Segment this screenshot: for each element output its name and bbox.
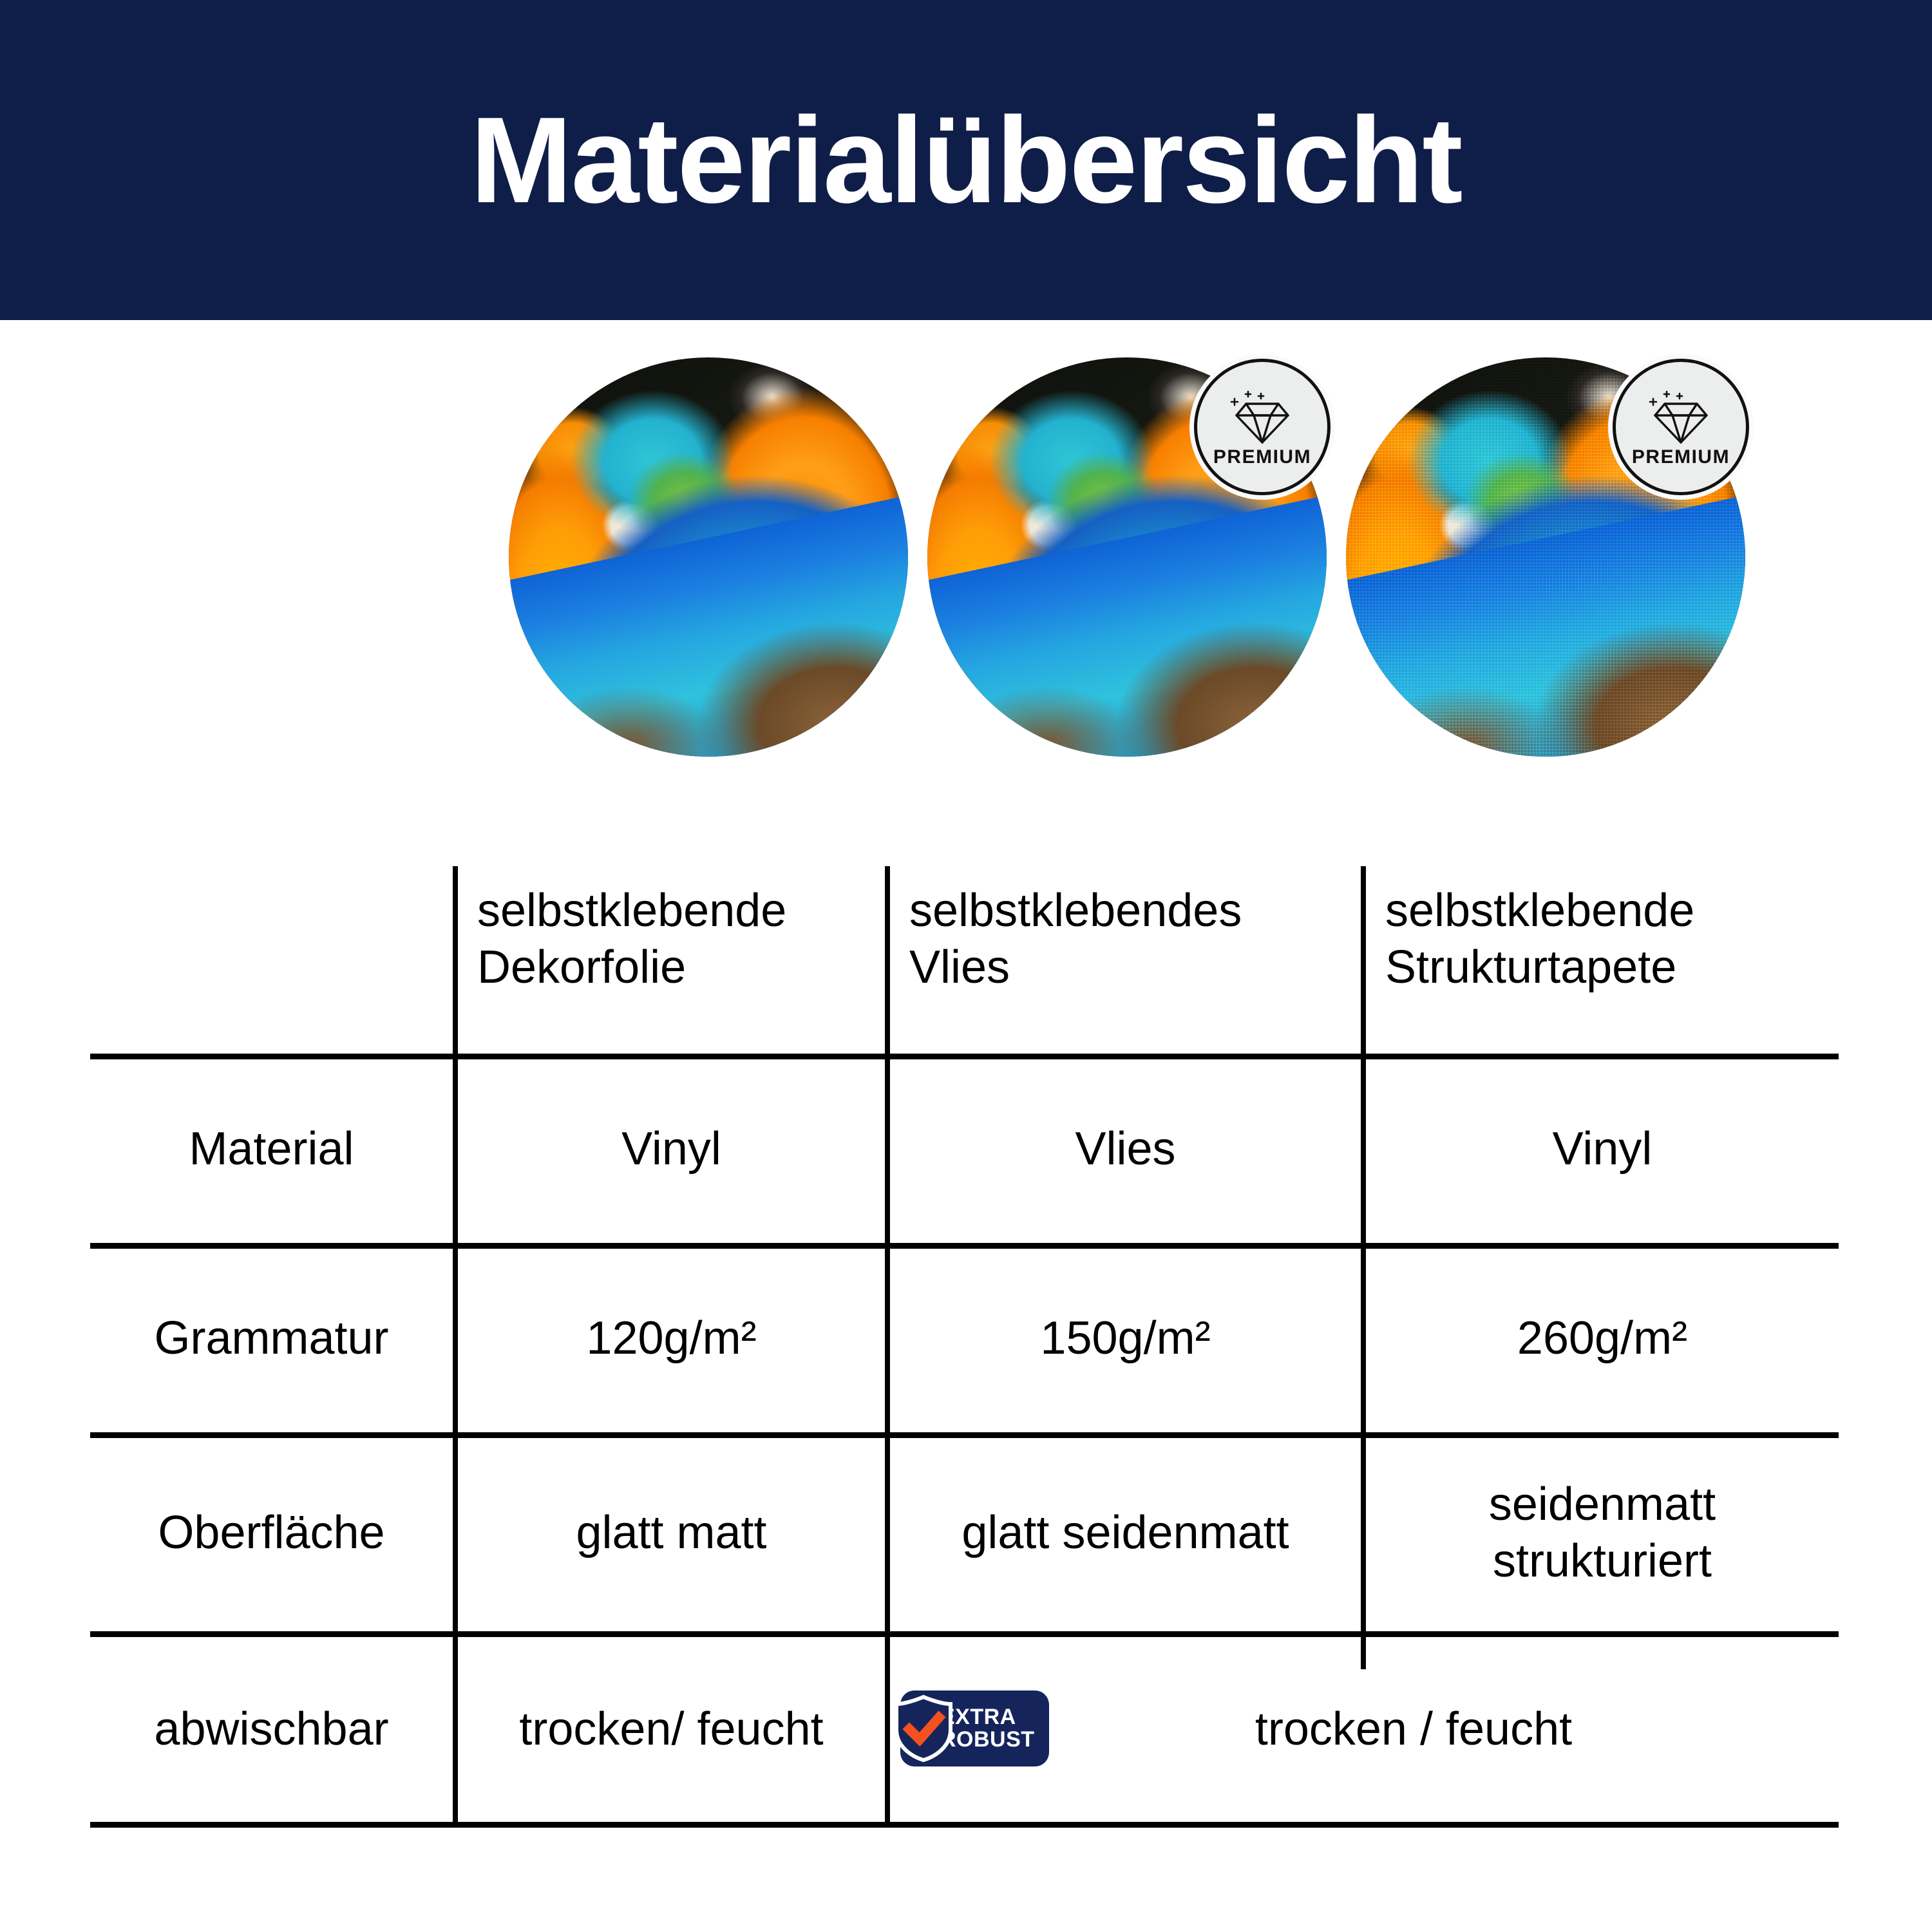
table-cell-abwischbar-dekorfolie: trocken/ feucht [458,1637,885,1822]
table-vline-3 [1361,866,1366,1669]
table-header-col1: selbstklebende Dekorfolie [460,880,879,1049]
premium-badge-label: PREMIUM [1213,448,1311,467]
product-preview-2[interactable]: PREMIUM [927,357,1327,757]
premium-badge: PREMIUM [1194,359,1331,495]
table-cell-material-vlies: Vlies [890,1059,1361,1240]
premium-badge-label: PREMIUM [1632,448,1730,467]
diamond-icon [1645,390,1716,445]
table-header-col3: selbstklebende Strukturtapete [1368,880,1832,1049]
table-vline-1 [453,866,458,1828]
table-hline-row1-bottom [90,1243,1839,1249]
table-rowlabel-material: Material [90,1059,453,1240]
macaw-parrot-image [509,357,908,757]
diamond-icon [1227,390,1298,445]
extra-robust-badge: EXTRA ROBUST [900,1690,1049,1766]
table-cell-material-strukturtapete: Vinyl [1366,1059,1839,1240]
table-cell-material-dekorfolie: Vinyl [458,1059,885,1240]
table-vline-2 [885,866,890,1828]
product-preview-1[interactable] [509,357,908,757]
table-header-col2: selbstklebendes Vlies [893,880,1355,1049]
product-preview-3[interactable]: PREMIUM [1346,357,1745,757]
shield-check-icon [893,1694,954,1763]
table-cell-oberflaeche-vlies: glatt seidenmatt [890,1438,1361,1628]
table-rowlabel-abwischbar: abwischbar [90,1637,453,1822]
material-spec-table: selbstklebende Dekorfolie selbstklebende… [90,866,1839,1828]
table-cell-oberflaeche-strukturtapete: seidenmatt strukturiert [1366,1438,1839,1628]
table-hline-row2-bottom [90,1432,1839,1438]
table-cell-abwischbar-vlies-strukturtapete: trocken / feucht [989,1637,1839,1822]
page-title: Materialübersicht [470,99,1461,222]
header-banner: Materialübersicht [0,0,1932,320]
table-hline-row3-bottom [90,1631,1839,1637]
table-cell-grammatur-strukturtapete: 260g/m² [1366,1249,1839,1429]
table-cell-grammatur-vlies: 150g/m² [890,1249,1361,1429]
table-rowlabel-oberflaeche: Oberfläche [90,1438,453,1628]
table-cell-oberflaeche-dekorfolie: glatt matt [458,1438,885,1628]
table-cell-grammatur-dekorfolie: 120g/m² [458,1249,885,1429]
table-hline-header-bottom [90,1054,1839,1059]
table-rowlabel-grammatur: Grammatur [90,1249,453,1429]
premium-badge: PREMIUM [1613,359,1749,495]
table-hline-table-bottom [90,1822,1839,1828]
preview-circle-image-1 [509,357,908,757]
